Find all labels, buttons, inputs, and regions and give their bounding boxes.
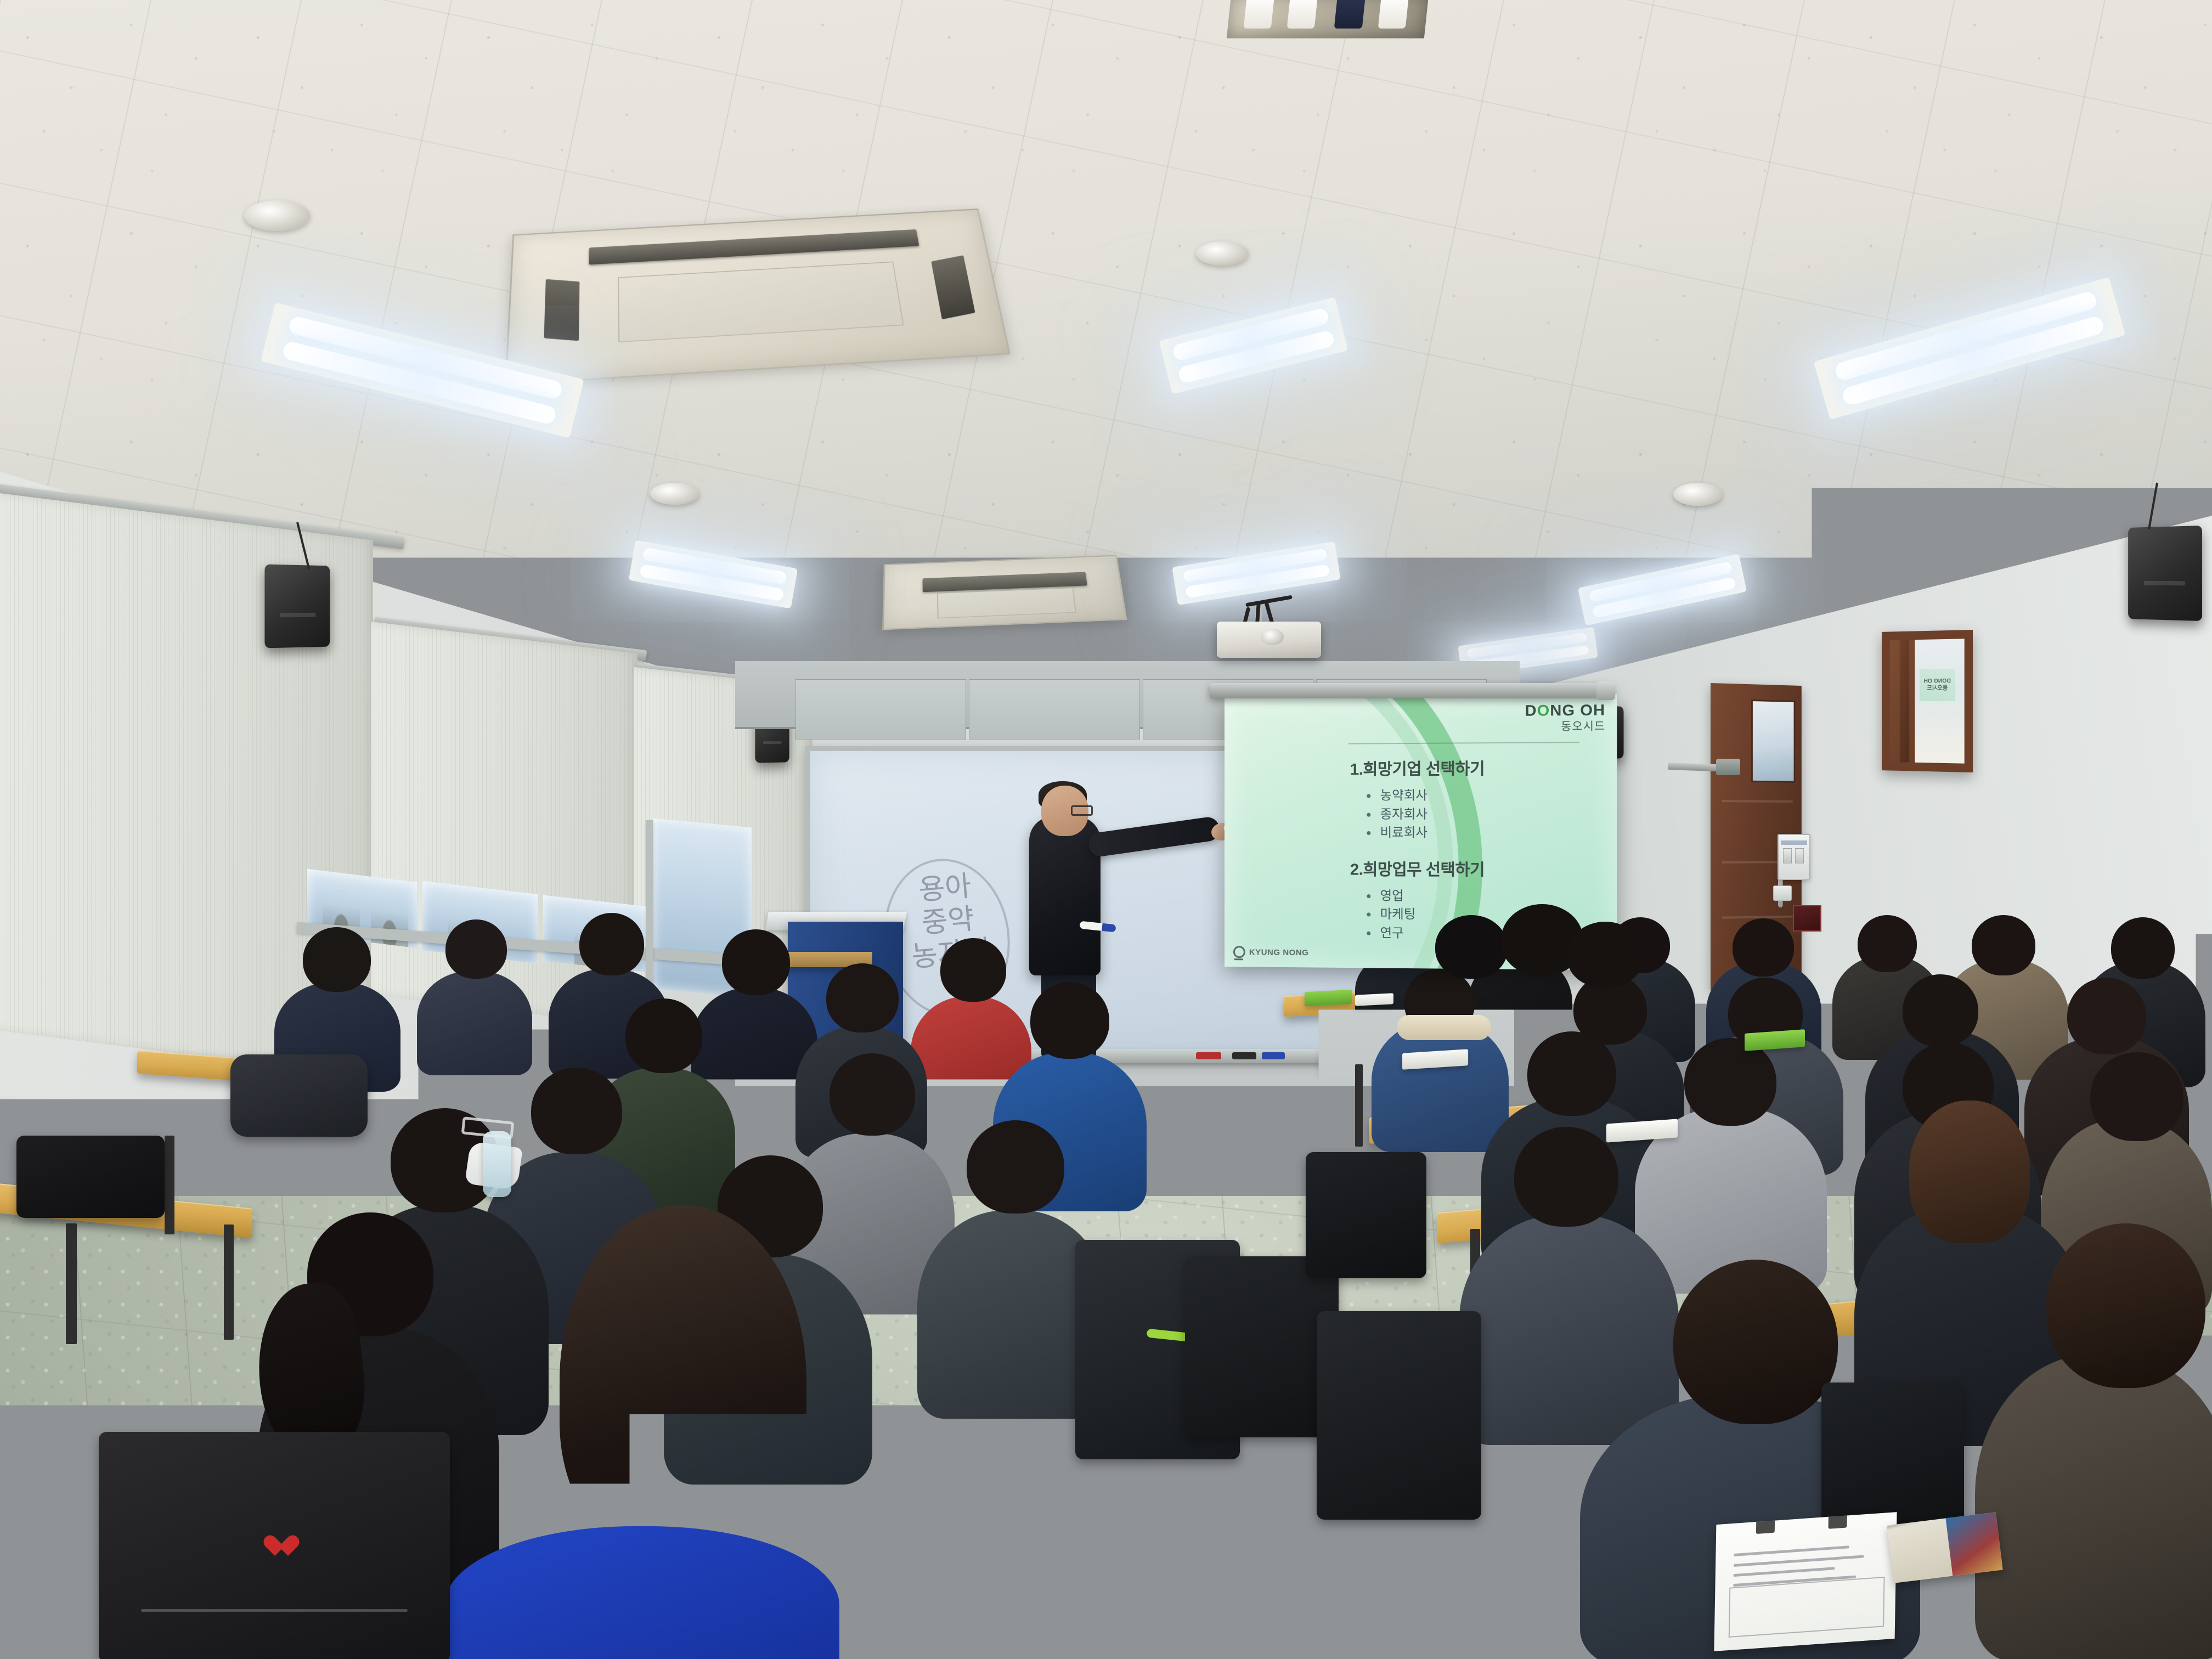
student-head: [579, 913, 644, 975]
wall-outlet: [1773, 885, 1792, 901]
student-head: [1514, 1127, 1618, 1227]
door-panel-line-1: [1722, 800, 1792, 803]
student-head: [1858, 915, 1917, 972]
student-head-foreground: [560, 1205, 806, 1556]
dongoh-logo-o-letter: O: [1537, 702, 1550, 719]
smoke-detector-icon-2: [1196, 241, 1249, 266]
student-head: [1733, 918, 1794, 977]
projection-screen-case: [1210, 683, 1613, 698]
ceiling-projector: [1217, 622, 1321, 658]
switch-label-strip: [1781, 840, 1807, 845]
backpack-right-floor: [1821, 1383, 1964, 1525]
ac-filter-panel: [618, 261, 904, 342]
dongoh-logo-en: DONG OH: [1525, 702, 1606, 719]
light-switch-panel[interactable]: [1778, 834, 1810, 880]
reflected-logo-en: DONG OH: [1924, 678, 1951, 685]
handout-text-line: [1734, 1555, 1864, 1567]
student-head: [940, 938, 1006, 1002]
marker-black[interactable]: [1232, 1052, 1256, 1059]
head-silhouette-screen-3: [1567, 922, 1644, 988]
dongoh-logo-kr: 동오시드: [1525, 721, 1606, 732]
desk-leg: [224, 1224, 234, 1340]
student-torso: [417, 971, 532, 1075]
backpack-left-desk: [16, 1136, 165, 1218]
student-head: [2111, 917, 2175, 979]
student-head: [830, 1053, 915, 1136]
head-silhouette-screen-1: [1435, 915, 1508, 979]
student-torso: [1459, 1215, 1679, 1445]
student-head: [2067, 978, 2146, 1054]
projector-lens-icon: [1261, 629, 1284, 645]
wall-speaker-right: [2128, 526, 2202, 621]
ac-vent-left: [544, 279, 579, 341]
notebook-on-desk-white: [1355, 993, 1393, 1006]
window-reflection: DONG OH 동오시드: [1915, 639, 1965, 763]
kyungnong-logo-label: KYUNG NONG: [1249, 947, 1309, 957]
water-bottle: [483, 1131, 511, 1197]
desk-leg: [165, 1136, 174, 1234]
student-head: [303, 927, 371, 992]
dongoh-logo-en-before: D: [1525, 702, 1537, 719]
student-head: [722, 929, 790, 995]
light-switch-2: [1795, 848, 1804, 864]
reflected-slide-logo: DONG OH 동오시드: [1920, 669, 1955, 701]
clipboard-with-handout: [1714, 1512, 1897, 1651]
slide-heading-1: 1.희망기업 선택하기: [1350, 755, 1593, 780]
student-torso-denim: [1372, 1020, 1509, 1152]
dongoh-logo-en-after: NG OH: [1550, 701, 1605, 719]
backpack-right-aisle-2: [1306, 1152, 1426, 1278]
slide-heading-2: 2.희망업무 선택하기: [1350, 856, 1593, 881]
slide-bullet: 비료회사: [1364, 823, 1593, 842]
dongoh-logo: DONG OH 동오시드: [1525, 702, 1606, 732]
kyungnong-logo: KYUNG NONG: [1233, 946, 1309, 958]
reflective-window: DONG OH 동오시드: [1882, 630, 1973, 772]
backpack-right-aisle: [1317, 1311, 1481, 1520]
student-head: [1972, 915, 2035, 975]
backpack-zipper: [141, 1609, 408, 1612]
ac-grille: [589, 229, 919, 264]
kyungnong-mark-icon: [1233, 946, 1245, 958]
heart-logo-icon: [262, 1536, 287, 1559]
open-ceiling-tile: [1227, 0, 1429, 38]
door-panel-line-3: [1722, 915, 1792, 918]
handout-text-line: [1734, 1545, 1849, 1556]
student-head: [1030, 982, 1109, 1059]
backpack-aisle-left-2: [1185, 1256, 1339, 1437]
student-head: [2090, 1052, 2183, 1141]
smoke-detector-icon-3: [650, 483, 699, 505]
screen-case-endcap: [1596, 681, 1615, 700]
student-head: [1684, 1038, 1776, 1126]
door-closer-body: [1716, 759, 1740, 775]
lecture-hall-photo: 용아 중약 농자개 DONG OH 동오시드: [0, 0, 2212, 1659]
ac-filter-panel-secondary: [936, 588, 1076, 619]
slide-bullet: 농약회사: [1364, 786, 1593, 805]
handout-table-box: [1729, 1576, 1885, 1638]
student-head-longhair-brown: [1909, 1101, 2030, 1243]
reflected-logo-kr: 동오시드: [1927, 685, 1948, 693]
student-head: [967, 1120, 1064, 1214]
book-cover-art: [1945, 1512, 2002, 1576]
ceiling-air-vent-secondary: [882, 555, 1127, 630]
student-head: [826, 963, 899, 1032]
marker-red[interactable]: [1196, 1052, 1221, 1059]
slide-bullet: 종자회사: [1364, 804, 1593, 823]
student-head: [625, 998, 702, 1073]
window-frame-mullion: [646, 820, 653, 996]
light-switch-1: [1783, 848, 1792, 864]
desk-leg: [1355, 1064, 1363, 1147]
glasses-icon: [1071, 805, 1093, 816]
ac-vent-right: [932, 255, 975, 319]
window-stile: [1900, 640, 1909, 762]
jacket-fleece-collar: [1397, 1015, 1491, 1040]
student-head: [1903, 974, 1978, 1047]
handout-text-line: [1734, 1567, 1835, 1577]
jacket-on-chair-left: [230, 1054, 368, 1137]
slide-bullet: 영업: [1364, 887, 1593, 906]
student-head: [445, 919, 507, 979]
notebook-on-desk-green: [1305, 990, 1352, 1007]
smoke-detector-icon: [244, 200, 310, 231]
ceiling-air-conditioner: [505, 208, 1011, 385]
student-torso-foreground-far-right: [1975, 1354, 2212, 1659]
marker-blue[interactable]: [1262, 1052, 1285, 1059]
wall-speaker-left: [264, 565, 330, 648]
desk-leg: [66, 1223, 77, 1344]
student-head: [531, 1068, 622, 1154]
wall-notice-sign: [1793, 905, 1821, 932]
smoke-detector-icon-4: [1673, 483, 1723, 506]
slide-bullet-list-1: 농약회사 종자회사 비료회사: [1364, 786, 1593, 842]
student-head: [1527, 1031, 1616, 1116]
student-head-foreground-far-right: [2046, 1223, 2205, 1388]
door-glass-pane: [1751, 699, 1796, 782]
student-head-foreground-right: [1673, 1260, 1838, 1424]
